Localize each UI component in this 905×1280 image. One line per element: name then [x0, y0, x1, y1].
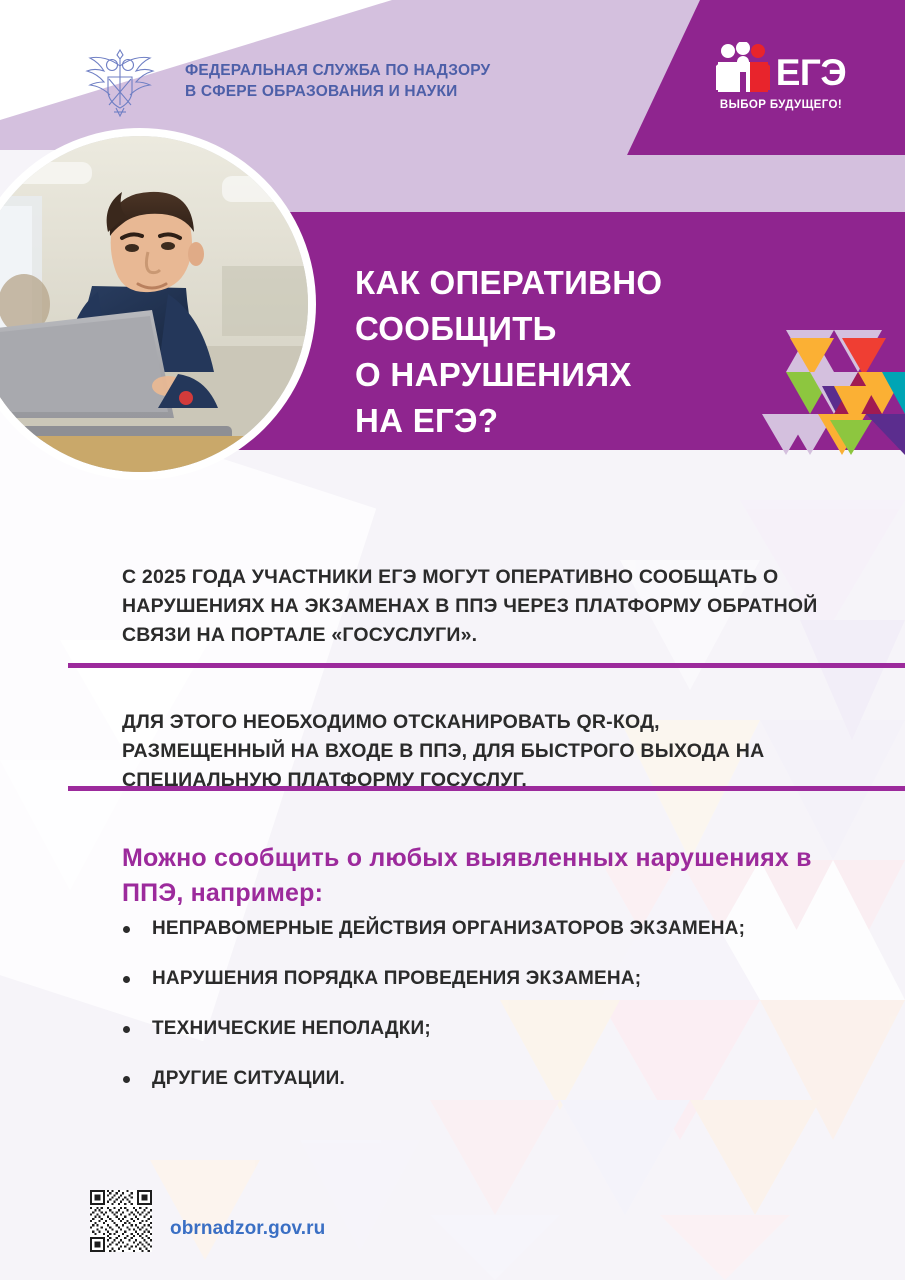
colored-triangle-mosaic [762, 330, 905, 455]
ege-logo-tagline: ВЫБОР БУДУЩЕГО! [706, 99, 856, 111]
list-item: НЕПРАВОМЕРНЫЕ ДЕЙСТВИЯ ОРГАНИЗАТОРОВ ЭКЗ… [120, 915, 840, 943]
paragraph-intro: С 2025 ГОДА УЧАСТНИКИ ЕГЭ МОГУТ ОПЕРАТИВ… [122, 563, 822, 650]
ege-logo-mark: ЕГЭ [706, 40, 856, 92]
qr-code[interactable] [90, 1190, 152, 1252]
violations-list: НЕПРАВОМЕРНЫЕ ДЕЙСТВИЯ ОРГАНИЗАТОРОВ ЭКЗ… [120, 915, 840, 1115]
organization-title-line-1: ФЕДЕРАЛЬНАЯ СЛУЖБА ПО НАДЗОРУ [185, 60, 515, 81]
divider-rule-2 [68, 786, 905, 791]
poster: ФЕДЕРАЛЬНАЯ СЛУЖБА ПО НАДЗОРУ В СФЕРЕ ОБ… [0, 0, 905, 1280]
page-title-line-4: НА ЕГЭ? [355, 398, 775, 444]
divider-rule-1 [68, 663, 905, 668]
ege-logo-word: ЕГЭ [776, 54, 846, 92]
paragraph-qr-instruction: ДЛЯ ЭТОГО НЕОБХОДИМО ОТСКАНИРОВАТЬ QR-КО… [122, 708, 822, 795]
organization-title: ФЕДЕРАЛЬНАЯ СЛУЖБА ПО НАДЗОРУ В СФЕРЕ ОБ… [185, 60, 515, 102]
rosobrnadzor-eagle-emblem-icon [72, 44, 168, 120]
list-item: ДРУГИЕ СИТУАЦИИ. [120, 1065, 840, 1093]
ege-three-figures-icon [716, 42, 770, 92]
website-url[interactable]: obrnadzor.gov.ru [170, 1218, 325, 1240]
page-title: КАК ОПЕРАТИВНО СООБЩИТЬ О НАРУШЕНИЯХ НА … [355, 260, 775, 444]
list-item: ТЕХНИЧЕСКИЕ НЕПОЛАДКИ; [120, 1015, 840, 1043]
page-title-line-2: СООБЩИТЬ [355, 306, 775, 352]
ege-logo: ЕГЭ ВЫБОР БУДУЩЕГО! [706, 40, 856, 111]
page-title-line-1: КАК ОПЕРАТИВНО [355, 260, 775, 306]
page-title-line-3: О НАРУШЕНИЯХ [355, 352, 775, 398]
organization-title-line-2: В СФЕРЕ ОБРАЗОВАНИЯ И НАУКИ [185, 81, 515, 102]
list-item: НАРУШЕНИЯ ПОРЯДКА ПРОВЕДЕНИЯ ЭКЗАМЕНА; [120, 965, 840, 993]
section-heading-violations: Можно сообщить о любых выявленных наруше… [122, 841, 822, 911]
